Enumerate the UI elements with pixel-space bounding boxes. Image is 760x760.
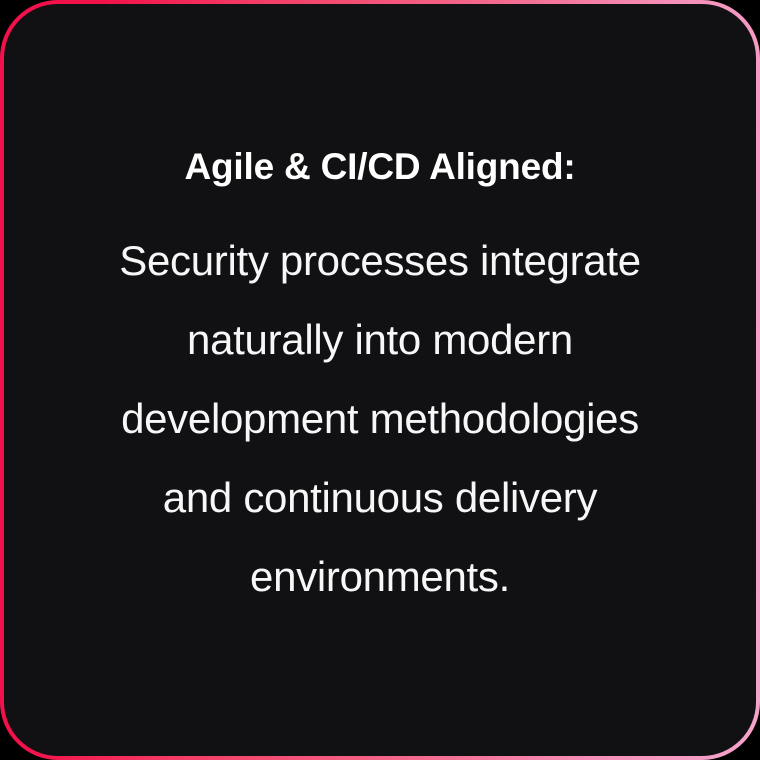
- card-description: Security processes integrate naturally i…: [52, 221, 708, 616]
- card-content-area: Agile & CI/CD Aligned: Security processe…: [8, 8, 752, 752]
- description-line-2: naturally into modern: [52, 300, 708, 379]
- card-heading: Agile & CI/CD Aligned:: [185, 144, 576, 190]
- description-line-4: and continuous delivery: [52, 458, 708, 537]
- description-line-3: development methodologies: [52, 379, 708, 458]
- description-line-5: environments.: [52, 537, 708, 616]
- feature-card: Agile & CI/CD Aligned: Security processe…: [0, 0, 760, 760]
- description-line-1: Security processes integrate: [52, 221, 708, 300]
